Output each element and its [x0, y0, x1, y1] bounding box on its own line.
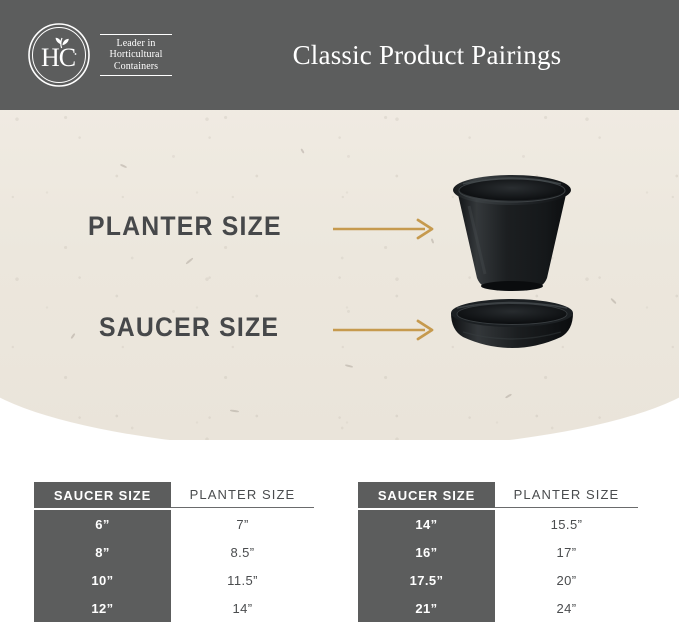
- cell-saucer-size: 12”: [34, 594, 171, 622]
- cell-saucer-size: 21”: [358, 594, 495, 622]
- size-tables: SAUCER SIZE PLANTER SIZE 6” 7” 8” 8.5” 1…: [0, 482, 679, 622]
- table-row: 14” 15.5”: [358, 510, 638, 538]
- cell-saucer-size: 14”: [358, 510, 495, 538]
- table-row: 8” 8.5”: [34, 538, 314, 566]
- size-table-large: SAUCER SIZE PLANTER SIZE 14” 15.5” 16” 1…: [358, 482, 638, 622]
- hero-textured-background: [0, 110, 679, 440]
- saucer-tray-image: [447, 296, 577, 357]
- planter-pot-image: [447, 170, 577, 300]
- cell-saucer-size: 8”: [34, 538, 171, 566]
- cell-planter-size: 24”: [495, 594, 638, 622]
- table-row: 6” 7”: [34, 510, 314, 538]
- tagline-line-2: Horticultural: [110, 49, 163, 61]
- column-header-saucer-size: SAUCER SIZE: [358, 482, 495, 508]
- table-row: 21” 24”: [358, 594, 638, 622]
- cell-planter-size: 7”: [171, 510, 314, 538]
- planter-size-label: PLANTER SIZE: [88, 211, 282, 242]
- hero-panel: PLANTER SIZE SAUCER SIZE: [0, 110, 679, 440]
- tagline-rule-bottom: [100, 75, 172, 76]
- svg-text:HC: HC: [41, 43, 75, 72]
- tagline-line-1: Leader in: [110, 38, 163, 50]
- cell-planter-size: 20”: [495, 566, 638, 594]
- cell-planter-size: 11.5”: [171, 566, 314, 594]
- table-row: 16” 17”: [358, 538, 638, 566]
- column-header-planter-size: PLANTER SIZE: [495, 482, 638, 508]
- cell-planter-size: 14”: [171, 594, 314, 622]
- column-header-planter-size: PLANTER SIZE: [171, 482, 314, 508]
- saucer-size-label: SAUCER SIZE: [99, 312, 279, 343]
- tagline-line-3: Containers: [110, 61, 163, 73]
- table-body: 6” 7” 8” 8.5” 10” 11.5” 12” 14”: [34, 510, 314, 622]
- cell-planter-size: 15.5”: [495, 510, 638, 538]
- brand-tagline: Leader in Horticultural Containers: [100, 34, 172, 76]
- planter-arrow-icon: [333, 218, 438, 240]
- size-table-small: SAUCER SIZE PLANTER SIZE 6” 7” 8” 8.5” 1…: [34, 482, 314, 622]
- tagline-lines: Leader in Horticultural Containers: [110, 35, 163, 75]
- table-row: 12” 14”: [34, 594, 314, 622]
- saucer-size-callout: SAUCER SIZE: [99, 312, 295, 343]
- cell-saucer-size: 16”: [358, 538, 495, 566]
- cell-saucer-size: 6”: [34, 510, 171, 538]
- table-row: 10” 11.5”: [34, 566, 314, 594]
- column-header-saucer-size: SAUCER SIZE: [34, 482, 171, 508]
- table-header-row: SAUCER SIZE PLANTER SIZE: [358, 482, 638, 508]
- hc-circle-logo-icon: HC: [26, 22, 92, 88]
- cell-saucer-size: 17.5”: [358, 566, 495, 594]
- cell-saucer-size: 10”: [34, 566, 171, 594]
- table-row: 17.5” 20”: [358, 566, 638, 594]
- page-header: HC Leader in Horticultural Containers Cl…: [0, 0, 679, 110]
- saucer-arrow-icon: [333, 319, 438, 341]
- cell-planter-size: 17”: [495, 538, 638, 566]
- table-header-row: SAUCER SIZE PLANTER SIZE: [34, 482, 314, 508]
- planter-size-callout: PLANTER SIZE: [88, 211, 299, 242]
- brand-logo: HC Leader in Horticultural Containers: [26, 23, 172, 87]
- table-body: 14” 15.5” 16” 17” 17.5” 20” 21” 24”: [358, 510, 638, 622]
- cell-planter-size: 8.5”: [171, 538, 314, 566]
